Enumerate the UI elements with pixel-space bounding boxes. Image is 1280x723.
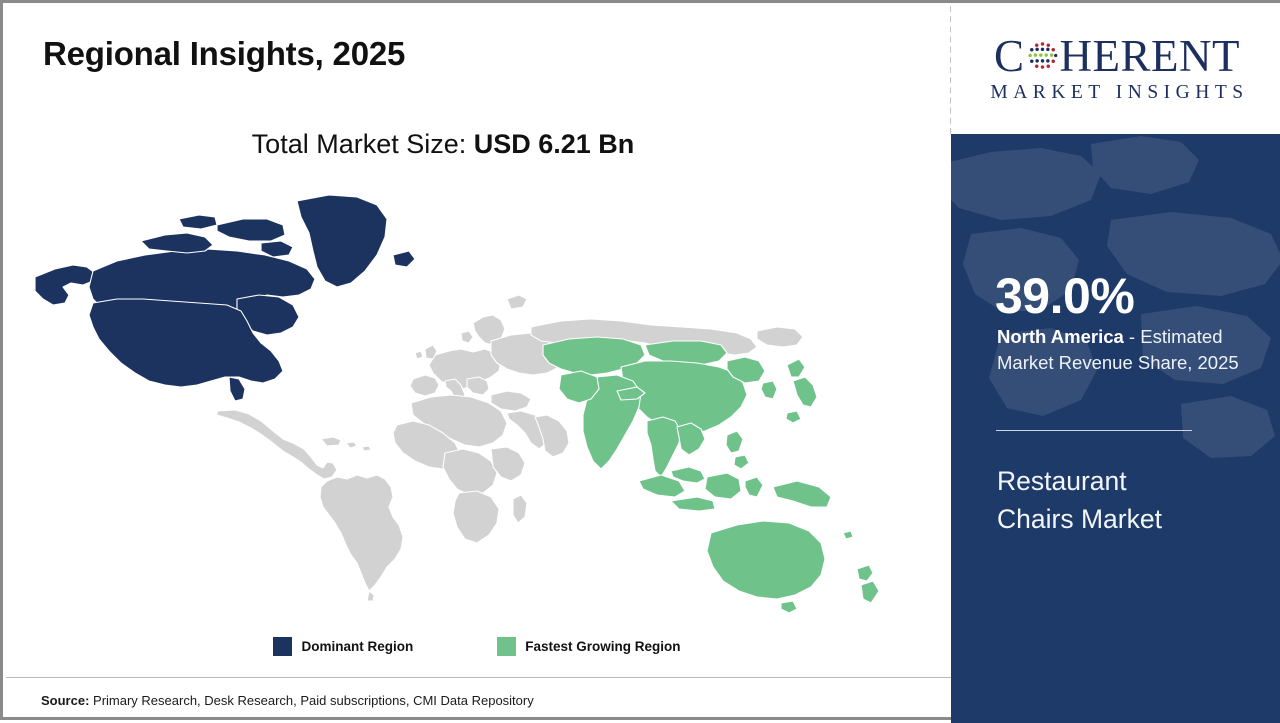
brand-logo-wordmark: C (994, 33, 1240, 79)
source-label: Source: (41, 693, 89, 708)
market-size-label: Total Market Size: (252, 129, 474, 159)
regional-insights-slide: Regional Insights, 2025 Total Market Siz… (0, 0, 1280, 720)
legend-label-fastest-growing: Fastest Growing Region (525, 639, 680, 654)
map-region-north-america (35, 195, 415, 401)
panel-divider (996, 430, 1192, 431)
stats-panel: 39.0% North America - Estimated Market R… (951, 134, 1280, 723)
legend-item-dominant: Dominant Region (273, 637, 413, 656)
page-title: Regional Insights, 2025 (43, 35, 405, 73)
map-legend: Dominant Region Fastest Growing Region (3, 637, 951, 656)
market-title-line2: Chairs Market (997, 500, 1267, 538)
market-share-percentage: 39.0% (995, 271, 1134, 321)
legend-swatch-dominant (273, 637, 292, 656)
market-size-value: USD 6.21 Bn (474, 129, 635, 159)
legend-label-dominant: Dominant Region (301, 639, 413, 654)
legend-item-fastest-growing: Fastest Growing Region (497, 637, 680, 656)
dotted-globe-icon (1026, 39, 1059, 72)
legend-swatch-fastest-growing (497, 637, 516, 656)
right-info-pane: C (951, 3, 1280, 723)
total-market-size: Total Market Size: USD 6.21 Bn (3, 129, 883, 160)
left-content-pane: Regional Insights, 2025 Total Market Siz… (3, 3, 951, 720)
map-region-asia-pacific (543, 337, 879, 613)
footer-divider (6, 677, 951, 678)
brand-tagline: MARKET INSIGHTS (985, 82, 1248, 104)
market-share-caption: North America - Estimated Market Revenue… (997, 324, 1259, 375)
brand-name-lead: C (994, 34, 1025, 79)
brand-logo: C (951, 3, 1280, 134)
brand-name-rest: HERENT (1060, 34, 1240, 79)
source-text: Primary Research, Desk Research, Paid su… (89, 693, 533, 708)
market-title: Restaurant Chairs Market (997, 462, 1267, 539)
world-map (21, 181, 921, 621)
source-note: Source: Primary Research, Desk Research,… (41, 693, 534, 708)
market-title-line1: Restaurant (997, 462, 1267, 500)
region-name: North America (997, 326, 1124, 347)
